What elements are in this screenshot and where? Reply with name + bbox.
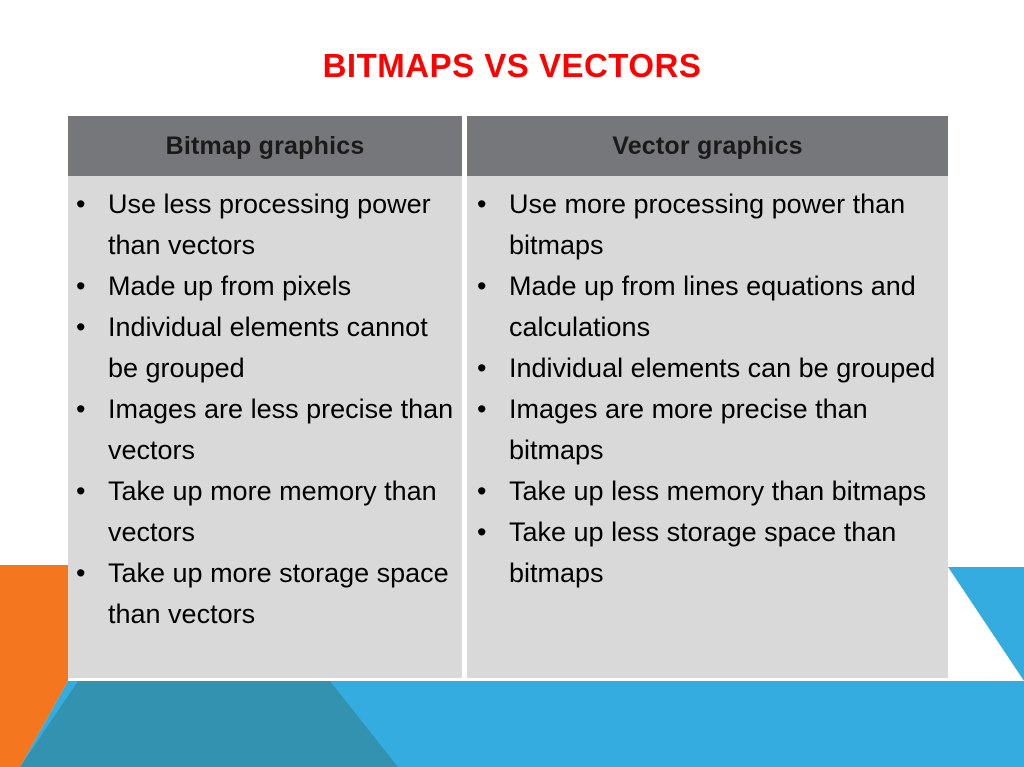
list-item: • Take up more storage space than vector… xyxy=(68,553,456,635)
list-item-label: Use more processing power than bitmaps xyxy=(509,184,940,266)
column-header-vector: Vector graphics xyxy=(467,116,948,176)
vector-bullet-list: • Use more processing power than bitmaps… xyxy=(467,184,948,594)
teal-shape xyxy=(20,681,398,767)
bullet-icon: • xyxy=(477,389,497,430)
bullet-icon: • xyxy=(76,266,96,307)
column-header-bitmap: Bitmap graphics xyxy=(68,116,462,176)
list-item-label: Take up less storage space than bitmaps xyxy=(509,512,940,594)
bitmap-bullet-list: • Use less processing power than vectors… xyxy=(68,184,462,635)
bullet-icon: • xyxy=(477,471,497,512)
slide-canvas: Bitmaps vs Vectors Bitmap graphics Vecto… xyxy=(0,0,1024,767)
list-item: • Take up less memory than bitmaps xyxy=(467,471,940,512)
table-cell-vector: • Use more processing power than bitmaps… xyxy=(467,176,948,678)
bullet-icon: • xyxy=(76,184,96,225)
list-item-label: Made up from pixels xyxy=(108,266,456,307)
bullet-icon: • xyxy=(477,348,497,389)
list-item-label: Take up more storage space than vectors xyxy=(108,553,456,635)
bullet-icon: • xyxy=(477,266,497,307)
list-item: • Take up less storage space than bitmap… xyxy=(467,512,940,594)
comparison-table: Bitmap graphics Vector graphics • Use le… xyxy=(68,116,948,678)
list-item-label: Take up less memory than bitmaps xyxy=(509,471,940,512)
list-item: • Use more processing power than bitmaps xyxy=(467,184,940,266)
list-item: • Images are less precise than vectors xyxy=(68,389,456,471)
bullet-icon: • xyxy=(477,184,497,225)
list-item: • Use less processing power than vectors xyxy=(68,184,456,266)
list-item: • Take up more memory than vectors xyxy=(68,471,456,553)
list-item: • Individual elements cannot be grouped xyxy=(68,307,456,389)
orange-shape xyxy=(0,565,68,767)
bullet-icon: • xyxy=(477,512,497,553)
table-cell-bitmap: • Use less processing power than vectors… xyxy=(68,176,462,678)
bullet-icon: • xyxy=(76,389,96,430)
list-item-label: Take up more memory than vectors xyxy=(108,471,456,553)
list-item-label: Images are less precise than vectors xyxy=(108,389,456,471)
list-item-label: Individual elements cannot be grouped xyxy=(108,307,456,389)
list-item: • Made up from lines equations and calcu… xyxy=(467,266,940,348)
list-item-label: Individual elements can be grouped xyxy=(509,348,940,389)
table-header-row: Bitmap graphics Vector graphics xyxy=(68,116,948,176)
page-title: Bitmaps vs Vectors xyxy=(0,46,1024,86)
list-item: • Made up from pixels xyxy=(68,266,456,307)
list-item-label: Use less processing power than vectors xyxy=(108,184,456,266)
bullet-icon: • xyxy=(76,471,96,512)
list-item: • Images are more precise than bitmaps xyxy=(467,389,940,471)
bullet-icon: • xyxy=(76,307,96,348)
list-item: • Individual elements can be grouped xyxy=(467,348,940,389)
table-body-row: • Use less processing power than vectors… xyxy=(68,176,948,678)
list-item-label: Images are more precise than bitmaps xyxy=(509,389,940,471)
bullet-icon: • xyxy=(76,553,96,594)
list-item-label: Made up from lines equations and calcula… xyxy=(509,266,940,348)
